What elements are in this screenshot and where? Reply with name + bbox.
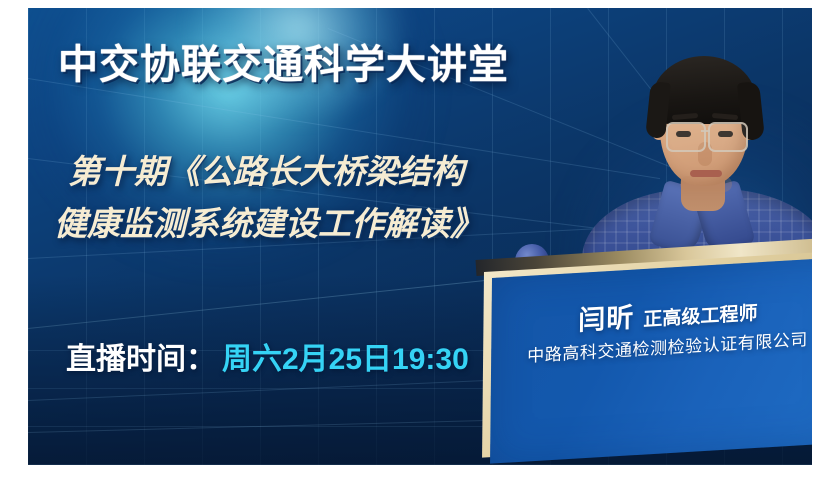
promo-poster: 中交协联交通科学大讲堂 第十期《公路长大桥梁结构 健康监测系统建设工作解读》 直…: [28, 8, 812, 465]
subtitle-block: 第十期《公路长大桥梁结构 健康监测系统建设工作解读》: [68, 146, 588, 250]
speaker-title: 正高级工程师: [643, 303, 758, 331]
photo-chin: [680, 176, 732, 192]
subtitle-line-2: 健康监测系统建设工作解读》: [54, 198, 588, 250]
glasses-icon: [708, 122, 748, 152]
speaker-name: 闫昕: [578, 302, 634, 335]
broadcast-time-label: 直播时间：: [66, 343, 216, 376]
broadcast-time-value: 周六2月25日19:30: [222, 343, 469, 376]
photo-mouth: [690, 170, 722, 177]
speaker-panel-content: 闫昕正高级工程师 中路高科交通检测检验认证有限公司: [490, 257, 812, 464]
broadcast-time-row: 直播时间：周六2月25日19:30: [66, 334, 469, 378]
glasses-icon: [666, 122, 706, 152]
page-title: 中交协联交通科学大讲堂: [58, 32, 509, 90]
speaker-panel: 闫昕正高级工程师 中路高科交通检测检验认证有限公司: [468, 266, 812, 465]
glasses-bridge: [701, 130, 710, 132]
subtitle-line-1: 第十期《公路长大桥梁结构: [68, 146, 588, 198]
